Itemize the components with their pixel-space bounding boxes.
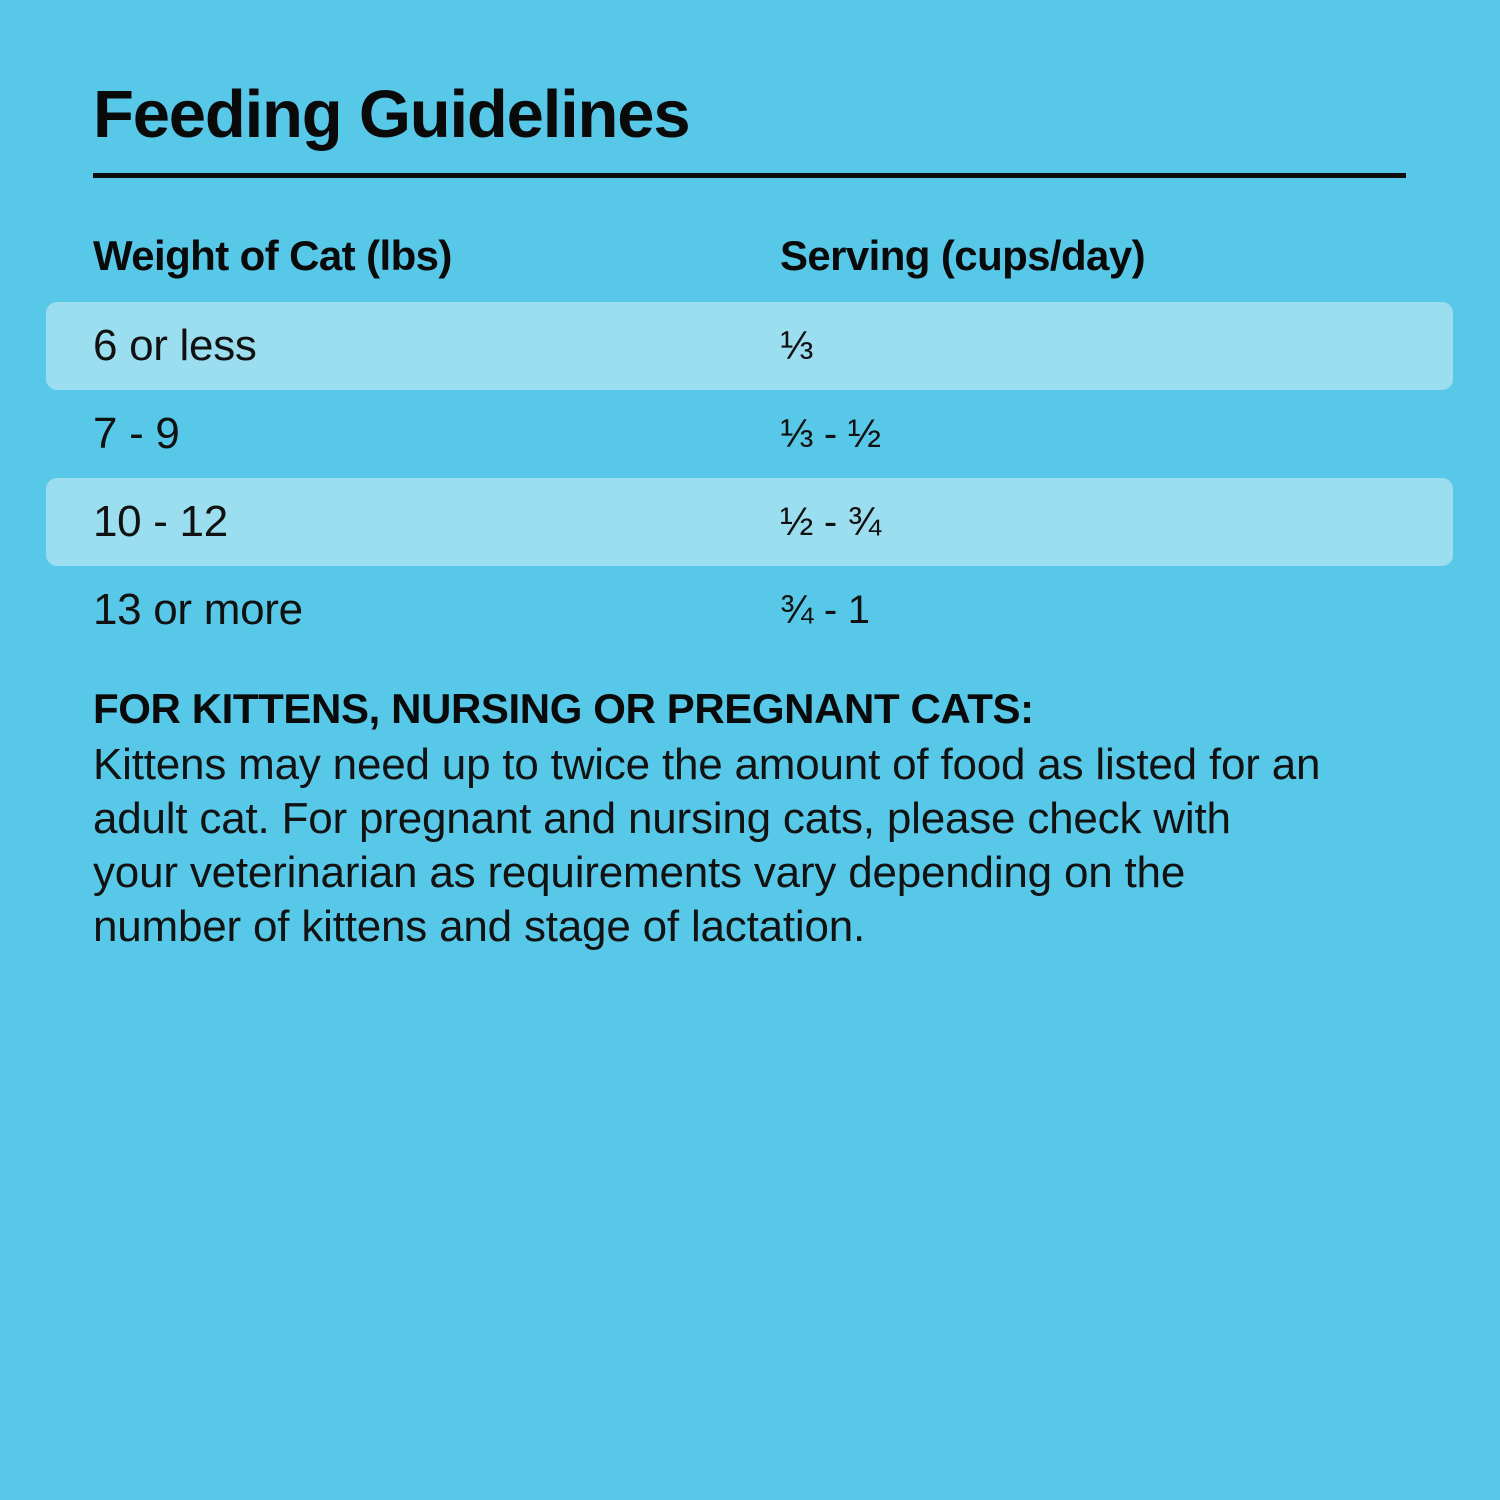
kitten-note-heading: FOR KITTENS, NURSING OR PREGNANT CATS: bbox=[93, 682, 1343, 735]
title-block: Feeding Guidelines bbox=[93, 80, 1406, 150]
cell-serving: ⅓ - ½ bbox=[780, 408, 881, 460]
table-row: 7 - 9 ⅓ - ½ bbox=[0, 390, 1500, 478]
cell-serving: ¾ - 1 bbox=[780, 584, 870, 636]
table-row: 13 or more ¾ - 1 bbox=[0, 566, 1500, 654]
kitten-note-body: Kittens may need up to twice the amount … bbox=[93, 738, 1323, 954]
column-header-serving: Serving (cups/day) bbox=[780, 232, 1145, 280]
column-header-weight: Weight of Cat (lbs) bbox=[93, 232, 452, 280]
table-header-row: Weight of Cat (lbs) Serving (cups/day) bbox=[0, 218, 1500, 302]
cell-weight: 10 - 12 bbox=[93, 496, 228, 548]
row-highlight-band bbox=[46, 478, 1453, 566]
feeding-guidelines-panel: Feeding Guidelines Weight of Cat (lbs) S… bbox=[0, 0, 1500, 1500]
kitten-note-section: FOR KITTENS, NURSING OR PREGNANT CATS: K… bbox=[93, 682, 1343, 954]
row-highlight-band bbox=[46, 302, 1453, 390]
cell-weight: 13 or more bbox=[93, 584, 303, 636]
table-row: 6 or less ⅓ bbox=[0, 302, 1500, 390]
cell-weight: 6 or less bbox=[93, 320, 257, 372]
table-row: 10 - 12 ½ - ¾ bbox=[0, 478, 1500, 566]
cell-weight: 7 - 9 bbox=[93, 408, 180, 460]
page-title: Feeding Guidelines bbox=[93, 80, 1406, 150]
feeding-table: Weight of Cat (lbs) Serving (cups/day) 6… bbox=[0, 218, 1500, 654]
title-divider bbox=[93, 173, 1406, 178]
cell-serving: ½ - ¾ bbox=[780, 496, 881, 548]
row-highlight-band bbox=[46, 390, 1453, 478]
cell-serving: ⅓ bbox=[780, 320, 813, 372]
